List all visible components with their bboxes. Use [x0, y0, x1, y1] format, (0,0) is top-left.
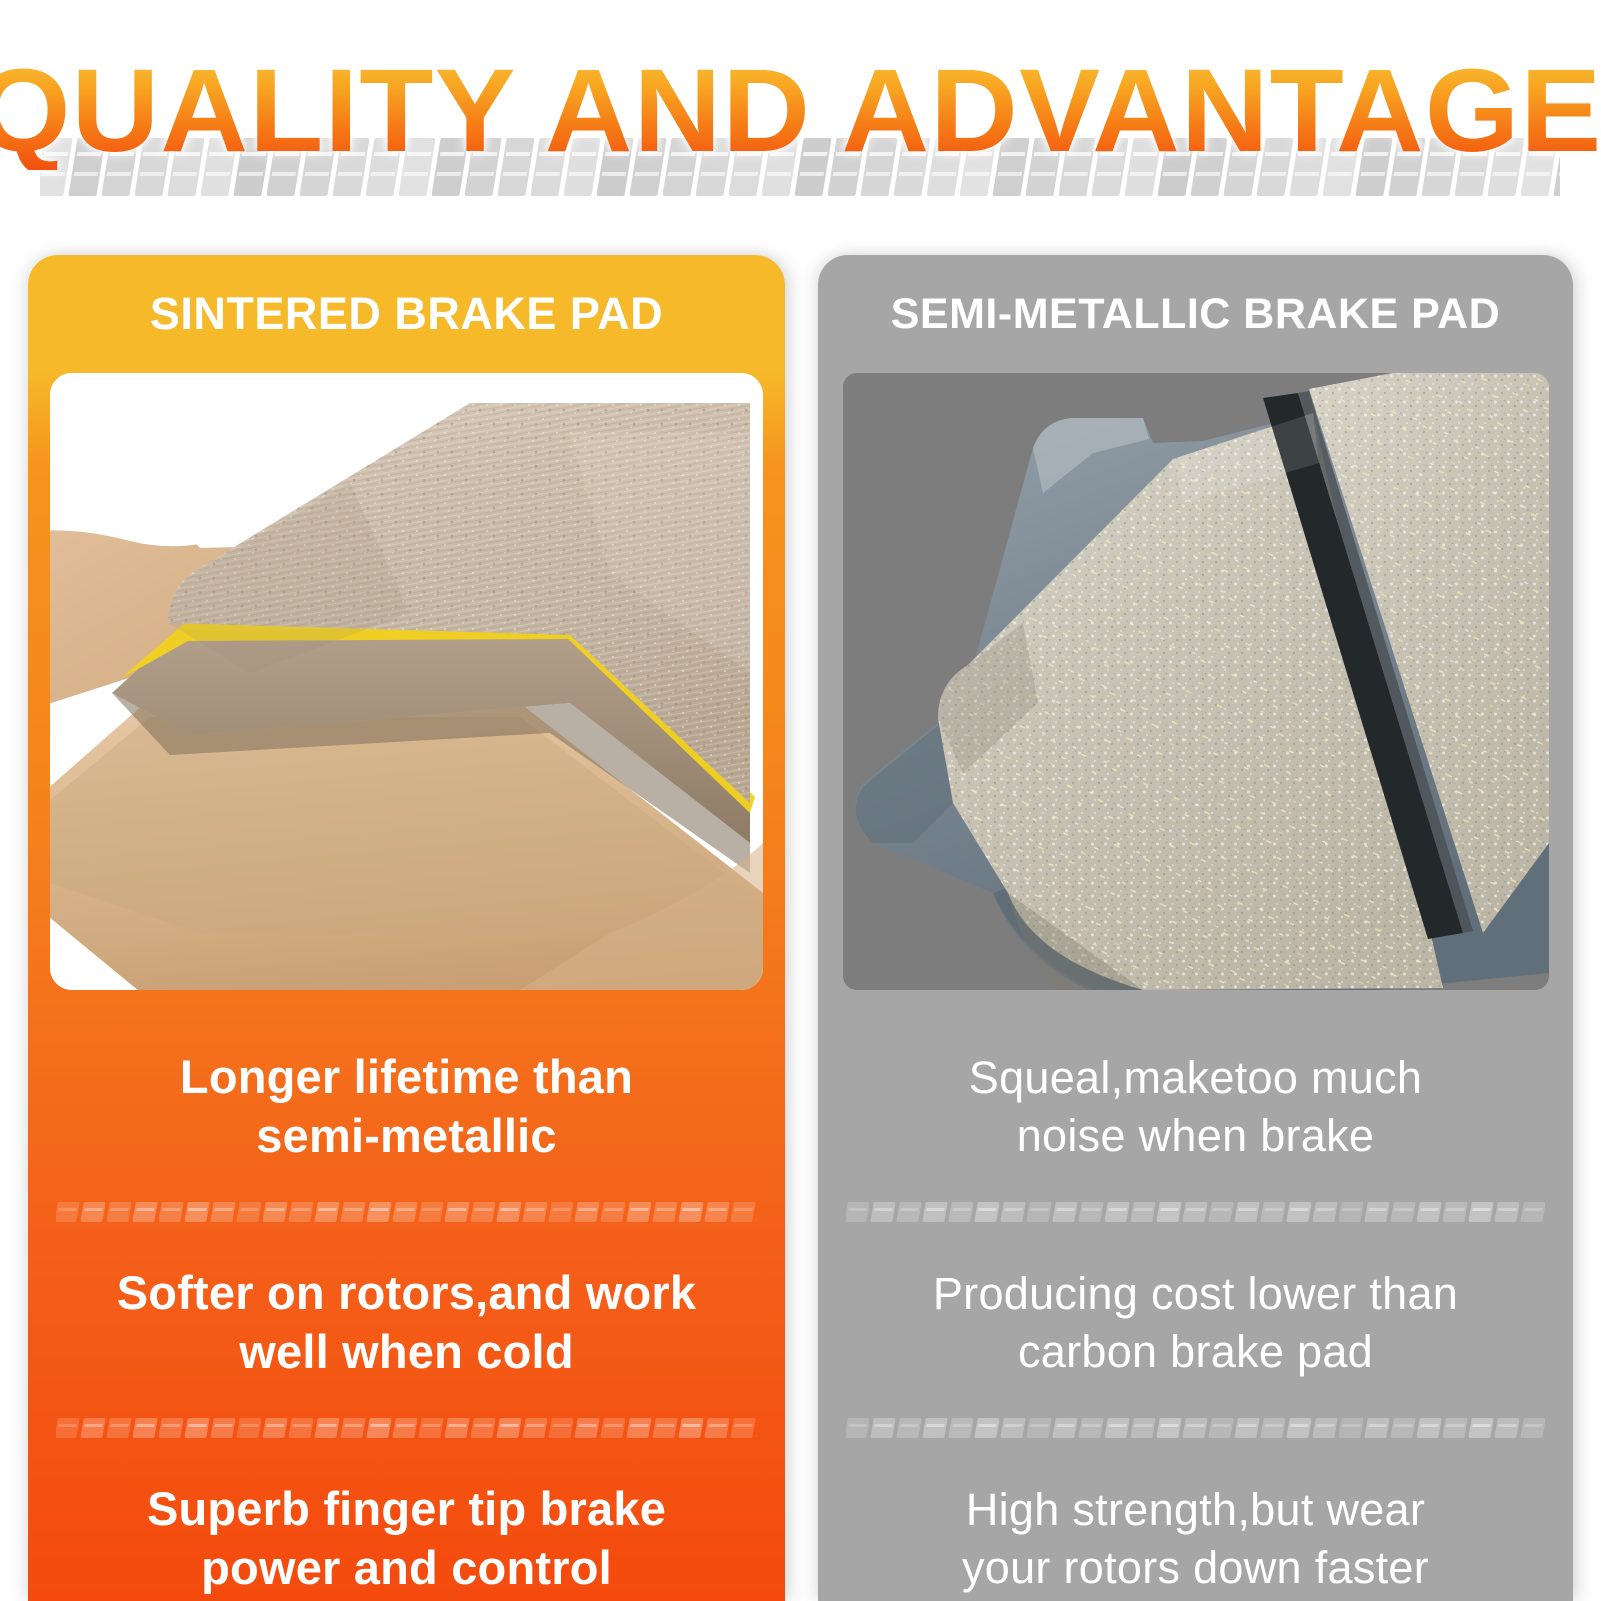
tread-block	[1104, 1418, 1130, 1438]
tread-block	[678, 1202, 704, 1222]
card-semi-metallic-brake-pad: SEMI-METALLIC BRAKE PAD	[818, 255, 1573, 1601]
feature-text: Producing cost lower than carbon brake p…	[878, 1265, 1513, 1381]
tread-block	[574, 1202, 600, 1222]
tread-block	[1416, 1418, 1442, 1438]
tread-block	[184, 1202, 210, 1222]
page-title: QUALITY AND ADVANTAGES	[0, 52, 1601, 170]
tread-block	[444, 1418, 470, 1438]
tread-block	[80, 1202, 106, 1222]
tread-block	[106, 1418, 132, 1438]
tread-block	[1156, 1418, 1182, 1438]
feature-item: Softer on rotors,and work well when cold	[28, 1231, 785, 1411]
tread-block	[496, 1202, 522, 1222]
tread-block	[1468, 1202, 1494, 1222]
tread-block	[158, 1202, 184, 1222]
feature-text: Squeal,maketoo much noise when brake	[878, 1049, 1513, 1165]
feature-item: Longer lifetime than semi-metallic	[28, 1015, 785, 1195]
tread-block	[418, 1202, 444, 1222]
feature-item: High strength,but wear your rotors down …	[818, 1447, 1573, 1601]
tread-block	[366, 1202, 392, 1222]
tread-block	[262, 1418, 288, 1438]
tread-divider-icon	[846, 1199, 1545, 1225]
tread-block	[470, 1202, 496, 1222]
tread-block	[56, 1418, 80, 1438]
tread-block	[974, 1202, 1000, 1222]
tread-block	[1364, 1202, 1390, 1222]
page-header: QUALITY AND ADVANTAGES	[0, 0, 1601, 232]
tread-block	[236, 1202, 262, 1222]
tread-block	[210, 1418, 236, 1438]
tread-block	[678, 1418, 704, 1438]
tread-block	[366, 1418, 392, 1438]
feature-list-semi-metallic: Squeal,maketoo much noise when brake Pro…	[818, 1015, 1573, 1601]
tread-block	[392, 1202, 418, 1222]
tread-block	[80, 1418, 106, 1438]
tread-block	[922, 1202, 948, 1222]
tread-block	[948, 1418, 974, 1438]
tread-block	[1442, 1202, 1468, 1222]
tread-block	[1156, 1202, 1182, 1222]
tread-block	[132, 1418, 158, 1438]
tread-block	[600, 1418, 626, 1438]
tread-divider-icon	[56, 1415, 757, 1441]
tread-block	[846, 1202, 870, 1222]
tread-block	[1000, 1202, 1026, 1222]
tread-block	[106, 1202, 132, 1222]
product-photo-semi-metallic-brake-pad	[843, 373, 1549, 990]
tread-block	[974, 1418, 1000, 1438]
tread-block	[418, 1418, 444, 1438]
tread-block	[1312, 1418, 1338, 1438]
tread-block	[236, 1418, 262, 1438]
tread-block	[1052, 1202, 1078, 1222]
tread-block	[1260, 1202, 1286, 1222]
tread-block	[548, 1202, 574, 1222]
feature-text: High strength,but wear your rotors down …	[878, 1481, 1513, 1597]
tread-block	[756, 1418, 757, 1438]
tread-block	[600, 1202, 626, 1222]
tread-block	[1182, 1202, 1208, 1222]
tread-block	[626, 1202, 652, 1222]
tread-block	[1390, 1202, 1416, 1222]
tread-block	[1026, 1202, 1052, 1222]
tread-block	[288, 1418, 314, 1438]
tread-block	[756, 1202, 757, 1222]
tread-divider-icon	[846, 1415, 1545, 1441]
tread-block	[1078, 1418, 1104, 1438]
tread-block	[340, 1202, 366, 1222]
tread-block	[1286, 1202, 1312, 1222]
tread-block	[652, 1202, 678, 1222]
tread-block	[522, 1418, 548, 1438]
tread-block	[210, 1202, 236, 1222]
tread-block	[470, 1418, 496, 1438]
tread-block	[870, 1418, 896, 1438]
tread-block	[870, 1202, 896, 1222]
tread-block	[922, 1418, 948, 1438]
tread-block	[1312, 1202, 1338, 1222]
tread-block	[1390, 1418, 1416, 1438]
tread-block	[1234, 1418, 1260, 1438]
tread-block	[1286, 1418, 1312, 1438]
card-title-sintered: SINTERED BRAKE PAD	[28, 255, 785, 373]
card-title-semi-metallic: SEMI-METALLIC BRAKE PAD	[818, 255, 1573, 373]
tread-block	[1494, 1202, 1520, 1222]
tread-block	[522, 1202, 548, 1222]
tread-block	[652, 1418, 678, 1438]
tread-block	[1208, 1202, 1234, 1222]
tread-block	[1000, 1418, 1026, 1438]
tread-block	[56, 1202, 80, 1222]
tread-block	[1104, 1202, 1130, 1222]
tread-block	[1078, 1202, 1104, 1222]
tread-block	[1130, 1418, 1156, 1438]
tread-block	[1520, 1202, 1545, 1222]
tread-block	[1234, 1202, 1260, 1222]
tread-block	[158, 1418, 184, 1438]
feature-text: Softer on rotors,and work well when cold	[88, 1263, 725, 1381]
tread-block	[730, 1418, 756, 1438]
tread-block	[1442, 1418, 1468, 1438]
tread-block	[574, 1418, 600, 1438]
feature-text: Longer lifetime than semi-metallic	[88, 1047, 725, 1165]
tread-block	[626, 1418, 652, 1438]
tread-block	[948, 1202, 974, 1222]
tread-block	[1182, 1418, 1208, 1438]
tread-block	[184, 1418, 210, 1438]
tread-block	[392, 1418, 418, 1438]
tread-block	[1260, 1418, 1286, 1438]
tread-block	[1130, 1202, 1156, 1222]
tread-block	[288, 1202, 314, 1222]
tread-block	[1208, 1418, 1234, 1438]
tread-block	[1052, 1418, 1078, 1438]
feature-item: Superb finger tip brake power and contro…	[28, 1447, 785, 1601]
tread-block	[1520, 1418, 1545, 1438]
feature-item: Squeal,maketoo much noise when brake	[818, 1015, 1573, 1195]
tread-block	[846, 1418, 870, 1438]
tread-block	[548, 1418, 574, 1438]
card-sintered-brake-pad: SINTERED BRAKE PAD	[28, 255, 785, 1601]
tread-block	[340, 1418, 366, 1438]
tread-block	[1026, 1418, 1052, 1438]
feature-text: Superb finger tip brake power and contro…	[88, 1479, 725, 1597]
tread-block	[704, 1418, 730, 1438]
tread-block	[704, 1202, 730, 1222]
tread-block	[896, 1418, 922, 1438]
tread-divider-icon	[56, 1199, 757, 1225]
tread-block	[314, 1202, 340, 1222]
feature-item: Producing cost lower than carbon brake p…	[818, 1231, 1573, 1411]
tread-block	[496, 1418, 522, 1438]
tread-block	[730, 1202, 756, 1222]
tread-block	[1364, 1418, 1390, 1438]
feature-list-sintered: Longer lifetime than semi-metallic Softe…	[28, 1015, 785, 1601]
tread-block	[444, 1202, 470, 1222]
tread-block	[314, 1418, 340, 1438]
tread-block	[1494, 1418, 1520, 1438]
product-photo-sintered-brake-pad	[50, 373, 763, 990]
tread-block	[1468, 1418, 1494, 1438]
tread-block	[262, 1202, 288, 1222]
tread-block	[1338, 1202, 1364, 1222]
tread-block	[132, 1202, 158, 1222]
tread-block	[1416, 1202, 1442, 1222]
tread-block	[896, 1202, 922, 1222]
tread-block	[1338, 1418, 1364, 1438]
